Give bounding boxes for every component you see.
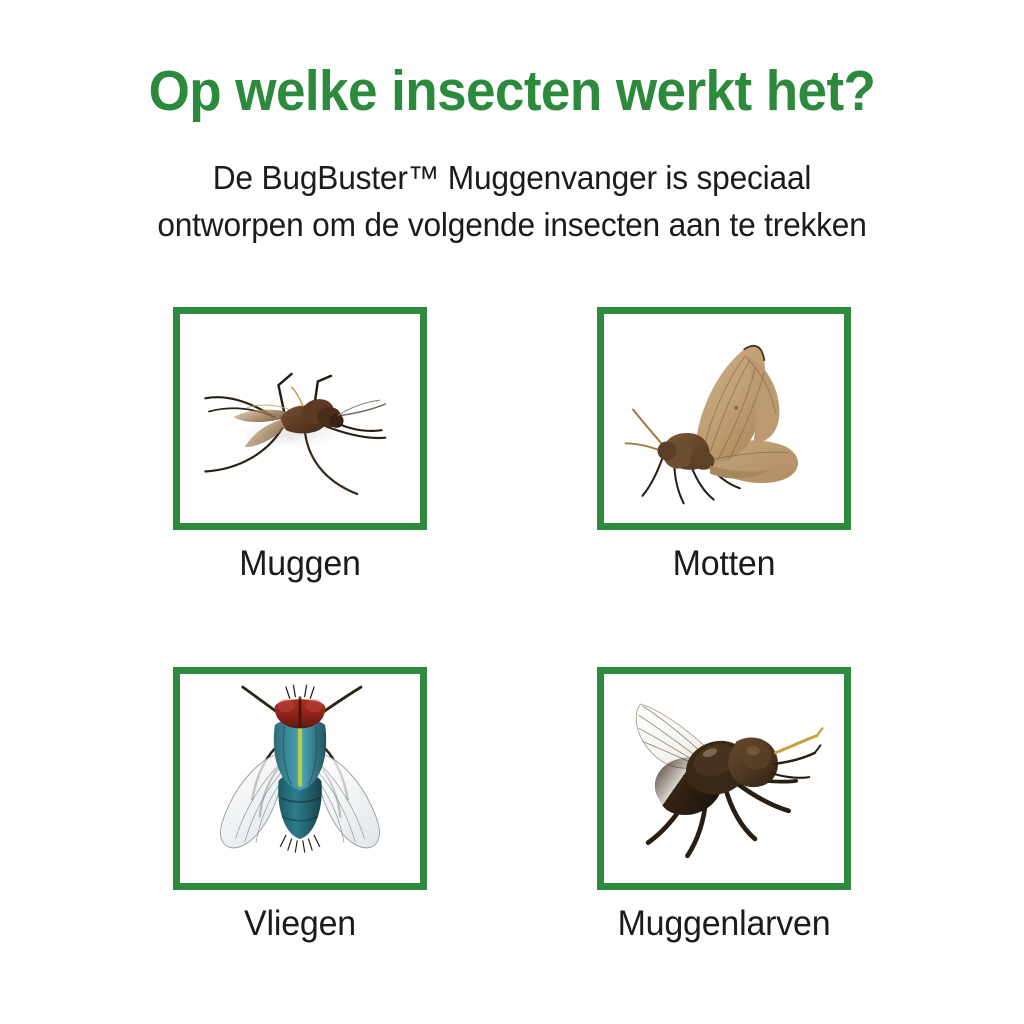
insect-grid-row: Muggen <box>173 307 851 584</box>
promo-graphic: Op welke insecten werkt het? De BugBuste… <box>0 0 1024 1024</box>
insect-card-label: Muggen <box>177 544 423 584</box>
insect-grid: Muggen <box>173 307 851 944</box>
insect-card-muggenlarven[interactable]: Muggenlarven <box>597 667 851 944</box>
insect-card-label: Motten <box>601 544 847 584</box>
insect-image-frame <box>597 307 851 530</box>
insect-card-motten[interactable]: Motten <box>597 307 851 584</box>
insect-image-frame <box>597 667 851 890</box>
insect-card-label: Muggenlarven <box>601 904 847 944</box>
gnat-icon <box>604 674 844 883</box>
moth-icon <box>604 314 844 523</box>
insect-image-frame <box>173 667 427 890</box>
insect-grid-row: Vliegen <box>173 667 851 944</box>
housefly-icon <box>180 674 420 883</box>
insect-card-muggen[interactable]: Muggen <box>173 307 427 584</box>
page-title: Op welke insecten werkt het? <box>36 58 988 124</box>
insect-card-vliegen[interactable]: Vliegen <box>173 667 427 944</box>
insect-image-frame <box>173 307 427 530</box>
insect-card-label: Vliegen <box>177 904 423 944</box>
intro-paragraph: De BugBuster™ Muggenvanger is speciaal o… <box>151 154 873 248</box>
mosquito-icon <box>180 314 420 523</box>
